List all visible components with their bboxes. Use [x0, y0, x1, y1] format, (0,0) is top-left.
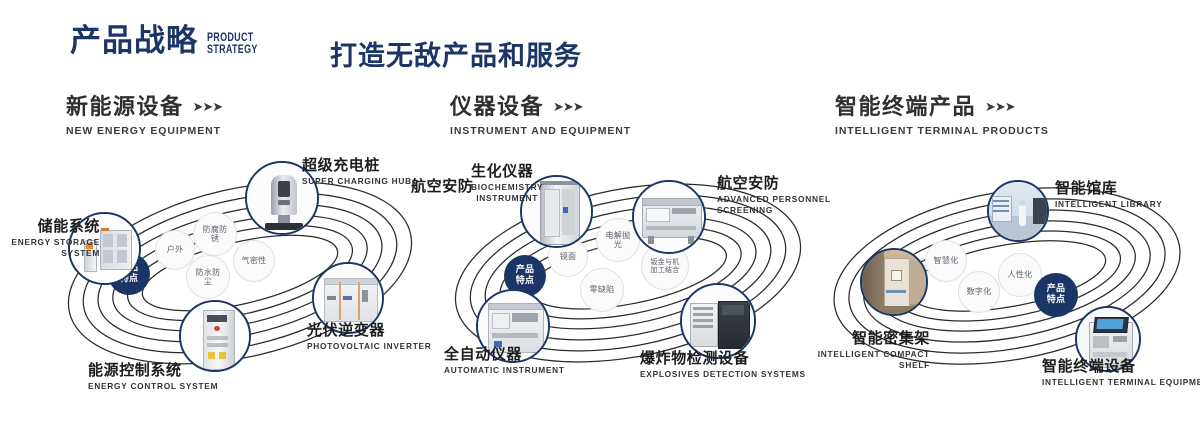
node-label-cn: 智能终端设备 [1042, 358, 1200, 375]
page-header: 产品战略 PRODUCT STRATEGY [70, 26, 272, 57]
feature-bubble-label: 电解抛光 [605, 231, 631, 250]
core-bubble-line2: 特点 [516, 276, 535, 287]
node-label-en: ENERGY CONTROL SYSTEM [88, 381, 218, 392]
section-title-en: INTELLIGENT TERMINAL PRODUCTS [835, 125, 1049, 137]
feature-bubble-label: 人性化 [1008, 270, 1033, 279]
node-label-explosives-detection: 爆炸物检测设备 EXPLOSIVES DETECTION SYSTEMS [640, 350, 806, 380]
node-label-biochemistry-instrument: 生化仪器 BIOCHEMISTRYINSTRUMENT [471, 163, 543, 204]
node-label-aviation-security-secondary: 航空安防 [411, 178, 473, 195]
feature-bubble-label: 气密性 [242, 256, 267, 265]
node-label-cn: 生化仪器 [471, 163, 543, 180]
node-label-en: BIOCHEMISTRYINSTRUMENT [471, 182, 543, 204]
node-label-energy-storage: 储能系统 ENERGY STORAGESYSTEM [0, 218, 100, 259]
screening-machine-icon [634, 182, 704, 252]
section-title-en: INSTRUMENT AND EQUIPMENT [450, 125, 631, 137]
detection-rack-icon [682, 285, 754, 357]
section-title-cn: 仪器设备 ➤➤➤ [450, 96, 631, 120]
node-label-cn: 光伏逆变器 [307, 322, 432, 339]
page-title-english: PRODUCT STRATEGY [207, 32, 258, 56]
page-title-english-line1: PRODUCT [207, 32, 258, 44]
feature-bubble-label: 防水防尘 [195, 268, 221, 287]
node-label-cn: 能源控制系统 [88, 362, 218, 379]
product-node-explosives-detection[interactable] [680, 283, 756, 359]
page-title: 产品战略 [70, 26, 198, 57]
node-label-super-charging-hub: 超级充电桩 SUPER CHARGING HUB [302, 157, 412, 187]
feature-bubble-label: 防腐防锈 [202, 225, 228, 244]
header-divider [297, 24, 298, 68]
node-label-en: AUTOMATIC INSTRUMENT [444, 365, 565, 376]
control-cabinet-icon [181, 302, 249, 370]
core-bubble-line1: 产品 [516, 265, 535, 276]
chevron-right-icon: ➤➤➤ [985, 101, 1015, 115]
node-label-en: ENERGY STORAGESYSTEM [0, 237, 100, 259]
section-title-cn: 智能终端产品 ➤➤➤ [835, 96, 1049, 120]
section-heading-new-energy: 新能源设备 ➤➤➤ NEW ENERGY EQUIPMENT [66, 96, 222, 137]
node-label-photovoltaic-inverter: 光伏逆变器 PHOTOVOLTAIC INVERTER [307, 322, 432, 352]
section-heading-instrument: 仪器设备 ➤➤➤ INSTRUMENT AND EQUIPMENT [450, 96, 631, 137]
node-label-en: INTELLIGENT LIBRARY [1055, 199, 1163, 210]
node-label-energy-control-system: 能源控制系统 ENERGY CONTROL SYSTEM [88, 362, 218, 392]
core-bubble-line1: 产品 [1047, 284, 1066, 295]
chevron-right-icon: ➤➤➤ [193, 101, 223, 115]
node-label-en: INTELLIGENT COMPACTSHELF [800, 349, 930, 371]
page-title-english-line2: STRATEGY [207, 44, 258, 56]
feature-bubble-label: 户外 [167, 245, 184, 254]
feature-bubble: 智慧化 [925, 240, 967, 282]
core-bubble-product-features: 产品 特点 [1034, 273, 1078, 317]
node-label-cn: 智能密集架 [800, 330, 930, 347]
node-label-cn: 爆炸物检测设备 [640, 350, 806, 367]
node-label-en: PHOTOVOLTAIC INVERTER [307, 341, 432, 352]
section-title-text: 新能源设备 [66, 96, 184, 120]
section-title-text: 智能终端产品 [835, 96, 976, 120]
node-label-automatic-instrument: 全自动仪器 AUTOMATIC INSTRUMENT [444, 346, 565, 376]
chevron-right-icon: ➤➤➤ [553, 101, 583, 115]
feature-bubble-label: 零缺陷 [590, 285, 615, 294]
feature-bubble-label: 钣金与机加工结合 [650, 258, 680, 275]
product-strategy-infographic: 产品战略 PRODUCT STRATEGY 打造无敌产品和服务 新能源设备 ➤➤… [0, 0, 1200, 422]
node-label-en: INTELLIGENT TERMINAL EQUIPMENT [1042, 377, 1200, 388]
compact-shelf-icon [862, 250, 926, 314]
section-title-cn: 新能源设备 ➤➤➤ [66, 96, 222, 120]
node-label-cn: 航空安防 [411, 178, 473, 195]
feature-bubble: 气密性 [233, 240, 275, 282]
feature-bubble: 数字化 [958, 271, 1000, 313]
node-label-intelligent-library: 智能馆库 INTELLIGENT LIBRARY [1055, 180, 1163, 210]
product-node-advanced-personnel-screening[interactable] [632, 180, 706, 254]
section-title-text: 仪器设备 [450, 96, 544, 120]
node-label-cn: 储能系统 [0, 218, 100, 235]
section-title-en: NEW ENERGY EQUIPMENT [66, 125, 222, 137]
node-label-cn: 全自动仪器 [444, 346, 565, 363]
node-label-intelligent-compact-shelf: 智能密集架 INTELLIGENT COMPACTSHELF [800, 330, 930, 371]
node-label-intelligent-terminal-equipment: 智能终端设备 INTELLIGENT TERMINAL EQUIPMENT [1042, 358, 1200, 388]
node-label-en: EXPLOSIVES DETECTION SYSTEMS [640, 369, 806, 380]
page-subtitle: 打造无敌产品和服务 [330, 34, 582, 73]
feature-bubble-label: 镜面 [560, 252, 577, 261]
section-heading-intelligent-terminal: 智能终端产品 ➤➤➤ INTELLIGENT TERMINAL PRODUCTS [835, 96, 1049, 137]
node-label-cn: 智能馆库 [1055, 180, 1163, 197]
feature-bubble-label: 智慧化 [934, 256, 959, 265]
feature-bubble: 零缺陷 [580, 268, 624, 312]
feature-bubble: 防腐防锈 [193, 212, 237, 256]
node-label-cn: 超级充电桩 [302, 157, 412, 174]
feature-bubble-label: 数字化 [967, 287, 992, 296]
product-node-intelligent-library[interactable] [987, 180, 1049, 242]
feature-bubble: 防水防尘 [186, 255, 230, 299]
library-room-icon [989, 182, 1047, 240]
cluster-new-energy: 户外 防腐防锈 防水防尘 气密性 产品 特点 [40, 155, 440, 395]
core-bubble-line2: 特点 [1047, 295, 1066, 306]
node-label-en: SUPER CHARGING HUB [302, 176, 412, 187]
product-node-intelligent-compact-shelf[interactable] [860, 248, 928, 316]
